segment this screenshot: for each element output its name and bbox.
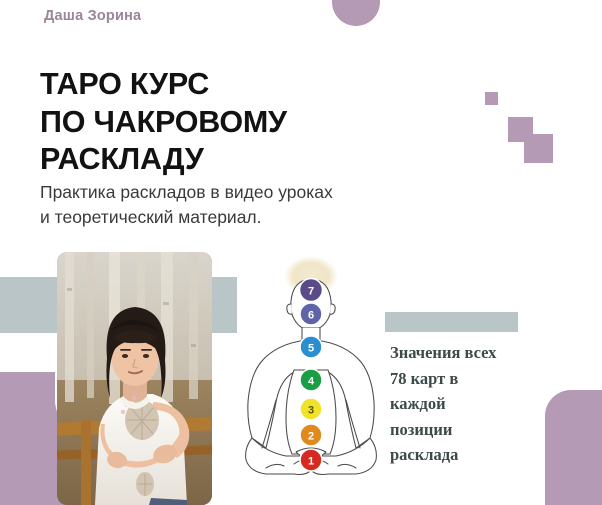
svg-text:7: 7	[308, 286, 314, 298]
chakra-5: 5	[300, 336, 322, 358]
decor-grey-band-mid	[212, 277, 237, 333]
decor-mauve-block-right	[545, 390, 602, 505]
page-subtitle-line-2: и теоретический материал.	[40, 205, 460, 230]
callout-line-1: Значения всех	[390, 340, 540, 366]
chakra-7: 7	[300, 279, 323, 302]
author-photo	[57, 252, 212, 505]
chakra-points: 7 6 5 4 3	[300, 279, 323, 472]
chakra-6: 6	[300, 303, 322, 325]
chakra-4: 4	[300, 369, 322, 391]
svg-text:3: 3	[308, 404, 314, 416]
callout-line-4: позиции	[390, 417, 540, 443]
callout-line-5: расклада	[390, 442, 540, 468]
page-subtitle: Практика раскладов в видео уроках и теор…	[40, 180, 460, 231]
page-title-line-2: ПО ЧАКРОВОМУ	[40, 104, 460, 141]
author-photo-illustration	[57, 252, 212, 505]
page-title-line-1: ТАРО КУРС	[40, 66, 460, 103]
chakra-figure-illustration: 7 6 5 4 3	[236, 252, 386, 494]
svg-text:2: 2	[308, 430, 314, 442]
svg-text:1: 1	[308, 455, 314, 467]
chakra-3: 3	[300, 398, 322, 420]
decor-grey-band-right	[385, 312, 518, 332]
svg-text:5: 5	[308, 342, 314, 354]
chakra-2: 2	[300, 424, 322, 446]
page-title-line-3: РАСКЛАДУ	[40, 141, 460, 178]
callout-text: Значения всех 78 карт в каждой позиции р…	[390, 340, 540, 468]
chakra-1: 1	[300, 449, 322, 471]
decor-square-small	[485, 92, 498, 105]
decor-circle-top	[332, 0, 380, 26]
page-title: ТАРО КУРС ПО ЧАКРОВОМУ РАСКЛАДУ	[40, 66, 460, 178]
callout-line-2: 78 карт в	[390, 366, 540, 392]
decor-square-large	[524, 134, 553, 163]
callout-line-3: каждой	[390, 391, 540, 417]
poster-canvas: Даша Зорина ТАРО КУРС ПО ЧАКРОВОМУ РАСКЛ…	[0, 0, 602, 505]
page-subtitle-line-1: Практика раскладов в видео уроках	[40, 180, 460, 205]
svg-text:6: 6	[308, 309, 314, 321]
chakra-figure: 7 6 5 4 3	[236, 252, 386, 494]
svg-text:4: 4	[308, 375, 315, 387]
author-byline: Даша Зорина	[44, 8, 141, 24]
